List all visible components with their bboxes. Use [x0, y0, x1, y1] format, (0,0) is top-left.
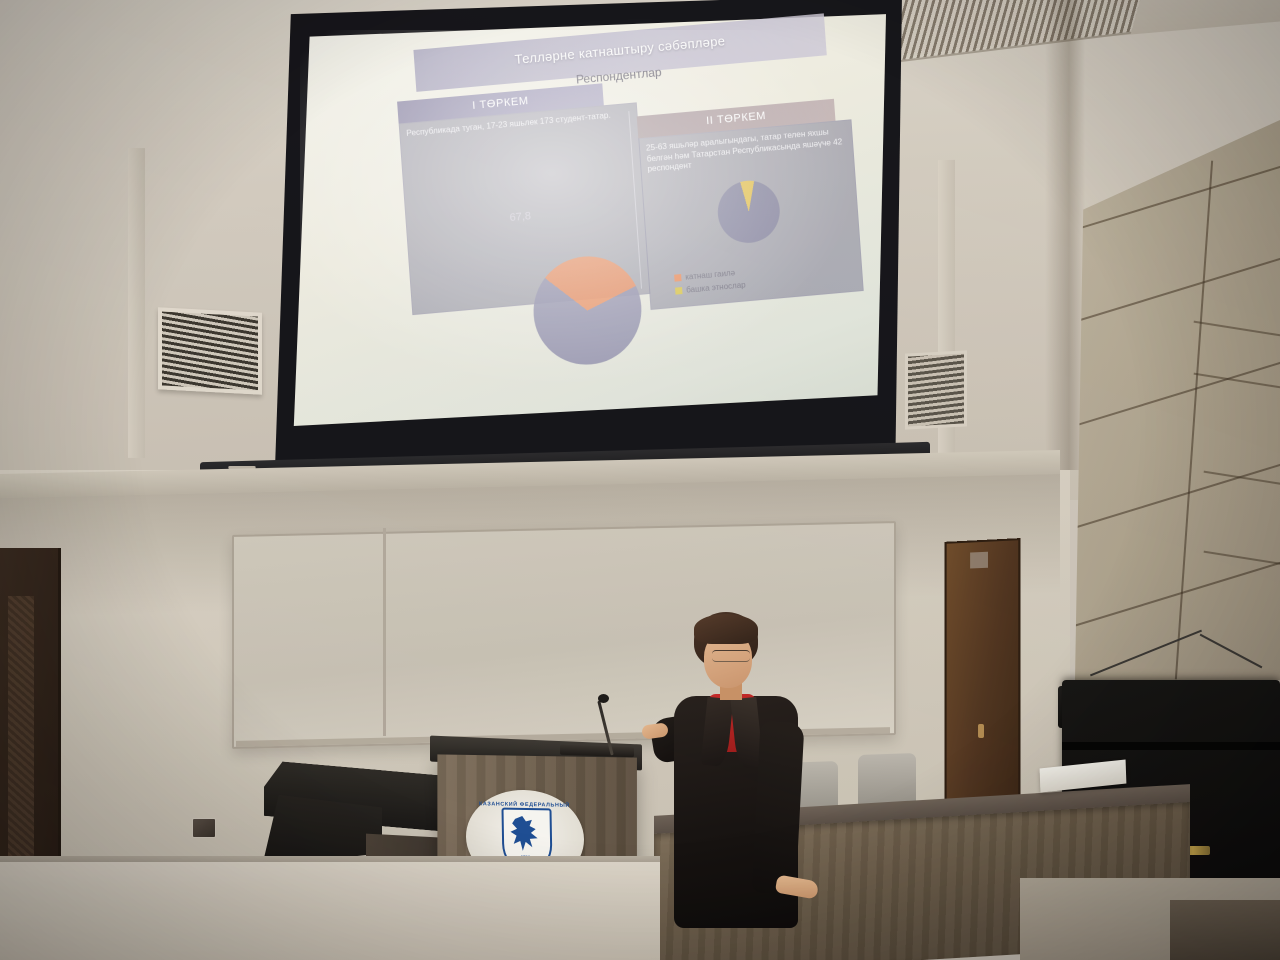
presenter-hair-fringe — [694, 614, 758, 644]
door-right-transom — [970, 552, 988, 569]
chevron-wall-panels — [1075, 120, 1280, 680]
door-handle-icon[interactable] — [978, 724, 984, 738]
wall-vent-grille-icon-right — [905, 350, 967, 429]
legend-swatch-orange — [674, 274, 681, 282]
door-right[interactable] — [945, 538, 1021, 826]
presenter — [646, 612, 836, 942]
whiteboard-divider — [383, 528, 386, 736]
legend-swatch-yellow — [675, 287, 682, 295]
legend-item-other-ethnos: башка этнослар — [675, 281, 746, 296]
lecture-hall-photo: Телләрне катнаштыру сәбәпләре Респондент… — [0, 0, 1280, 960]
legend-label-other-ethnos: башка этнослар — [686, 281, 746, 295]
pie-1-value-label: 67,8 — [509, 210, 531, 225]
presentation-slide: Телләрне катнаштыру сәбәпләре Респондент… — [300, 0, 893, 393]
floor — [1170, 900, 1280, 960]
group-1-panel: Республикада туган, 17-23 яшьлек 173 сту… — [399, 102, 651, 315]
piano-keyboard-rail — [1062, 742, 1280, 750]
presenter-right-arm — [752, 721, 805, 895]
stage-front-face — [0, 862, 660, 960]
wall-vent-grille-icon-left — [158, 307, 262, 394]
eyeglasses-icon — [712, 650, 750, 662]
door-left-glass-panel — [8, 596, 34, 896]
wall-post-left — [128, 148, 145, 458]
pie-chart-group-1 — [530, 252, 645, 369]
microphone-icon — [598, 694, 609, 703]
wall-corner-shadow — [1045, 0, 1085, 470]
light-switch[interactable] — [192, 818, 216, 838]
